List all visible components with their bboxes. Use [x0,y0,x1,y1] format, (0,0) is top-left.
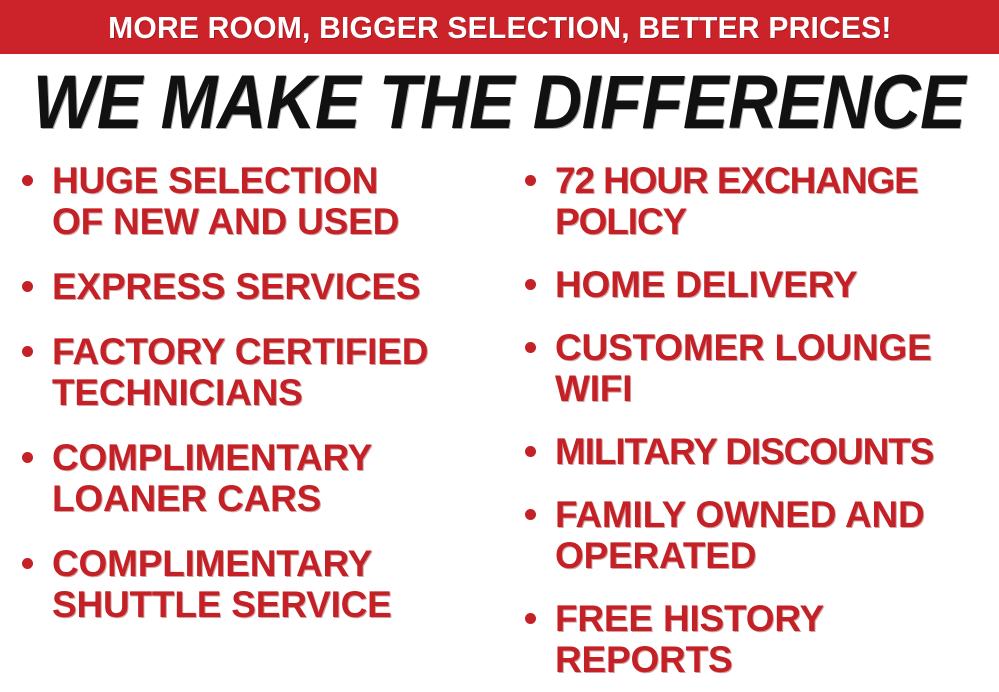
list-item-label: COMPLIMENTARY SHUTTLE SERVICE [52,543,505,625]
list-item-label: FACTORY CERTIFIED TECHNICIANS [52,331,505,413]
promo-banner: MORE ROOM, BIGGER SELECTION, BETTER PRIC… [0,0,999,54]
list-item-label: FREE HISTORY REPORTS [555,598,999,680]
list-item-label: COMPLIMENTARY LOANER CARS [52,437,505,519]
list-item-label: CUSTOMER LOUNGE WIFI [555,327,999,409]
list-item: EXPRESS SERVICES [16,266,505,307]
bullet-dot-icon [525,175,536,186]
headline-container: WE MAKE THE DIFFERENCE [0,62,999,144]
list-item: HOME DELIVERY [519,264,999,305]
list-item-label: 72 HOUR EXCHANGE POLICY [555,160,999,242]
list-item: CUSTOMER LOUNGE WIFI [519,327,999,409]
feature-column-left: HUGE SELECTION OF NEW AND USED EXPRESS S… [0,160,505,649]
list-item: FAMILY OWNED AND OPERATED [519,494,999,576]
list-item-label: HOME DELIVERY [555,264,999,305]
list-item: FACTORY CERTIFIED TECHNICIANS [16,331,505,413]
page-title: WE MAKE THE DIFFERENCE [33,65,966,141]
bullet-dot-icon [22,346,33,357]
list-item-label: FAMILY OWNED AND OPERATED [555,494,999,576]
list-item-label: MILITARY DISCOUNTS [555,431,999,472]
bullet-dot-icon [22,452,33,463]
list-item-label: HUGE SELECTION OF NEW AND USED [52,160,505,242]
list-item: HUGE SELECTION OF NEW AND USED [16,160,505,242]
bullet-dot-icon [22,281,33,292]
bullet-dot-icon [525,509,536,520]
bullet-dot-icon [525,613,536,624]
list-item: MILITARY DISCOUNTS [519,431,999,472]
feature-columns: HUGE SELECTION OF NEW AND USED EXPRESS S… [0,160,999,692]
feature-column-right: 72 HOUR EXCHANGE POLICY HOME DELIVERY CU… [505,160,999,692]
list-item: FREE HISTORY REPORTS [519,598,999,680]
bullet-dot-icon [525,446,536,457]
promo-banner-text: MORE ROOM, BIGGER SELECTION, BETTER PRIC… [108,12,892,43]
advertisement-banner: MORE ROOM, BIGGER SELECTION, BETTER PRIC… [0,0,999,692]
bullet-dot-icon [525,342,536,353]
bullet-dot-icon [525,279,536,290]
list-item: 72 HOUR EXCHANGE POLICY [519,160,999,242]
bullet-dot-icon [22,175,33,186]
list-item-label: EXPRESS SERVICES [52,266,505,307]
bullet-dot-icon [22,558,33,569]
list-item: COMPLIMENTARY LOANER CARS [16,437,505,519]
list-item: COMPLIMENTARY SHUTTLE SERVICE [16,543,505,625]
